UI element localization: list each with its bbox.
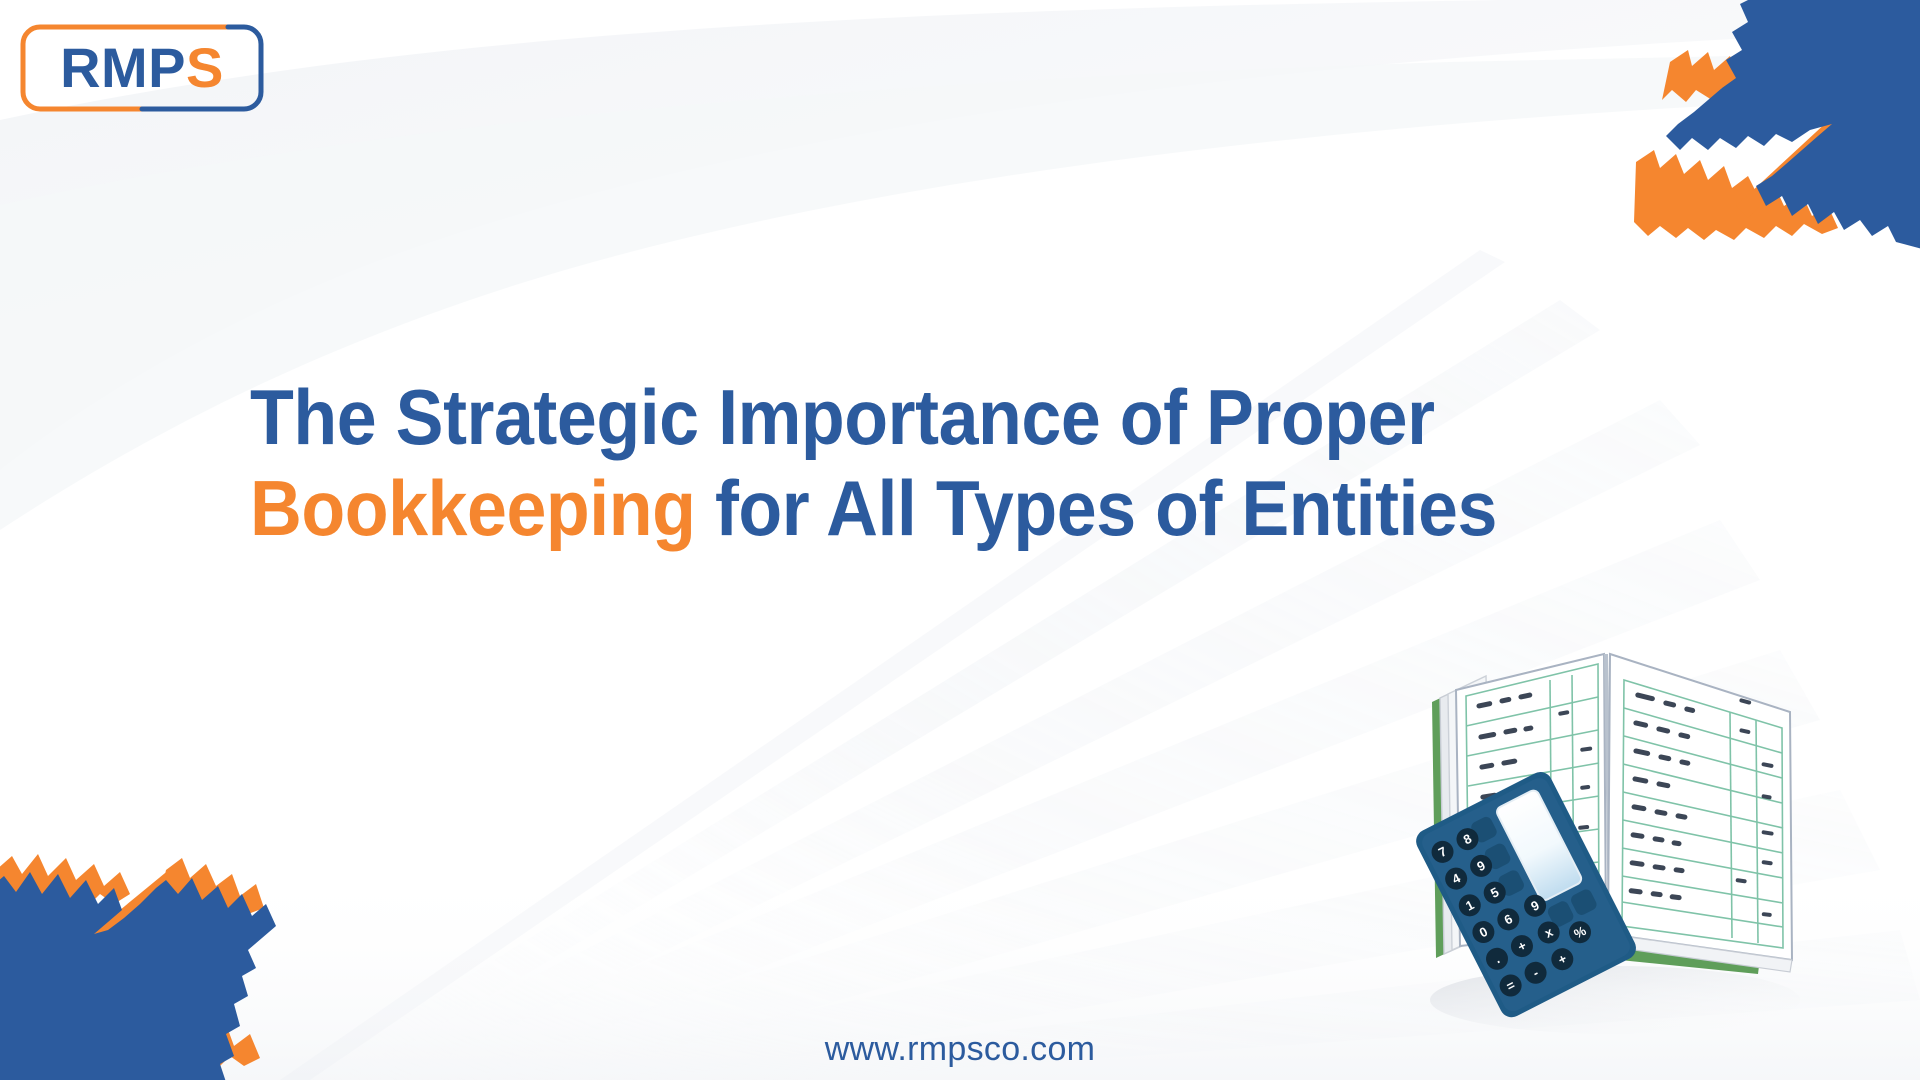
logo-wordmark: RMPS	[18, 22, 266, 114]
top-right-corner-decoration	[1596, 0, 1920, 250]
page-title: The Strategic Importance of Proper Bookk…	[250, 372, 1501, 553]
headline-line-1: The Strategic Importance of Proper	[250, 372, 1501, 462]
headline-line-2-rest: for All Types of Entities	[696, 464, 1497, 552]
headline-line-2: Bookkeeping for All Types of Entities	[250, 463, 1501, 553]
slide-canvas: RMPS The Strategic Importance of Proper …	[0, 0, 1920, 1080]
headline-accent-word: Bookkeeping	[250, 464, 696, 552]
logo-text-orange: S	[186, 40, 224, 96]
brand-logo[interactable]: RMPS	[18, 22, 266, 114]
website-url[interactable]: www.rmpsco.com	[0, 1030, 1920, 1069]
ledger-book-with-calculator-illustration: 78 49 15 06 .+ =- 9x +%	[1400, 640, 1820, 1040]
logo-text-blue: RMP	[60, 40, 186, 96]
